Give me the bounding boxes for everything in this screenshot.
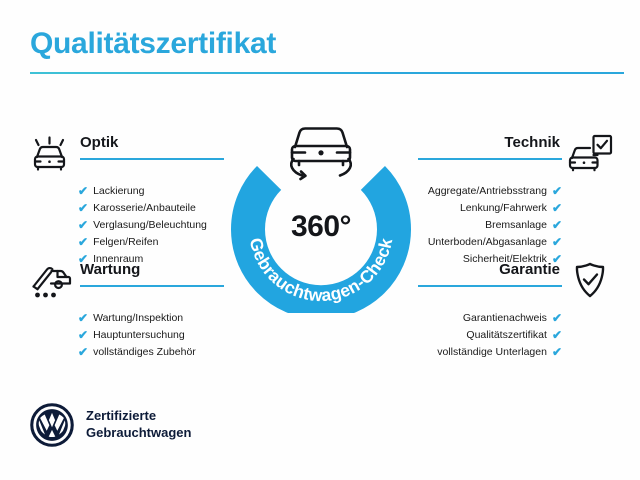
section-optik-title: Optik: [80, 135, 222, 152]
list-item: ✔Karosserie/Anbauteile: [24, 200, 224, 217]
section-garantie: Garantie Garantienachweis✔ Qualitätszert…: [416, 258, 616, 361]
list-item-label: Lenkung/Fahrwerk: [460, 203, 547, 214]
section-garantie-underline: [418, 285, 562, 287]
list-item-label: Unterboden/Abgasanlage: [428, 237, 547, 248]
section-technik-title-wrap: Technik: [418, 135, 560, 160]
list-item: ✔Felgen/Reifen: [24, 234, 224, 251]
check-icon: ✔: [552, 329, 562, 341]
list-item: ✔Lackierung: [24, 183, 224, 200]
list-item-label: Lackierung: [93, 186, 144, 197]
vw-logo: [30, 403, 74, 447]
section-wartung-title: Wartung: [80, 262, 222, 279]
section-optik-list: ✔Lackierung ✔Karosserie/Anbauteile ✔Verg…: [24, 183, 224, 268]
list-item-label: Verglasung/Beleuchtung: [93, 220, 207, 231]
title-divider: [30, 72, 624, 74]
check-icon: ✔: [552, 236, 562, 248]
section-wartung: Wartung ✔Wartung/Inspektion ✔Hauptunters…: [24, 258, 224, 361]
check-icon: ✔: [78, 236, 88, 248]
section-garantie-title: Garantie: [418, 262, 560, 279]
section-technik-list: Aggregate/Antriebsstrang✔ Lenkung/Fahrwe…: [416, 183, 616, 268]
list-item-label: Bremsanlage: [485, 220, 547, 231]
footer-line-2: Gebrauchtwagen: [86, 425, 191, 442]
section-wartung-underline: [80, 285, 224, 287]
list-item: Bremsanlage✔: [416, 217, 616, 234]
list-item: ✔vollständiges Zubehör: [24, 344, 224, 361]
list-item: ✔Verglasung/Beleuchtung: [24, 217, 224, 234]
car-service-wrench-icon: [24, 258, 76, 302]
check-icon: ✔: [78, 312, 88, 324]
check-icon: ✔: [552, 185, 562, 197]
section-optik-underline: [80, 158, 224, 160]
list-item: ✔Hauptuntersuchung: [24, 327, 224, 344]
section-garantie-list: Garantienachweis✔ Qualitätszertifikat✔ v…: [416, 310, 616, 361]
footer-brand: Zertifizierte Gebrauchtwagen: [30, 403, 191, 447]
list-item: Qualitätszertifikat✔: [416, 327, 616, 344]
check-icon: ✔: [552, 202, 562, 214]
list-item: Unterboden/Abgasanlage✔: [416, 234, 616, 251]
section-optik-title-wrap: Optik: [80, 135, 222, 160]
section-technik: Technik Aggregate/Antriebsstrang✔ Lenkun…: [416, 131, 616, 268]
car-front-headlights-icon: [24, 131, 76, 175]
list-item-label: vollständiges Zubehör: [93, 347, 196, 358]
list-item: ✔Wartung/Inspektion: [24, 310, 224, 327]
page-title: Qualitätszertifikat: [30, 28, 626, 60]
check-icon: ✔: [78, 202, 88, 214]
car-front-rotation-icon: [280, 117, 362, 185]
check-icon: ✔: [552, 219, 562, 231]
list-item-label: Felgen/Reifen: [93, 237, 158, 248]
section-technik-title: Technik: [418, 135, 560, 152]
check-icon: ✔: [552, 346, 562, 358]
list-item-label: Karosserie/Anbauteile: [93, 203, 196, 214]
list-item-label: Wartung/Inspektion: [93, 313, 183, 324]
list-item-label: Garantienachweis: [463, 313, 547, 324]
list-item: vollständige Unterlagen✔: [416, 344, 616, 361]
footer-line-1: Zertifizierte: [86, 408, 191, 425]
check-icon: ✔: [78, 185, 88, 197]
section-technik-header: Technik: [416, 131, 616, 177]
car-checkbox-icon: [564, 131, 616, 175]
list-item: Lenkung/Fahrwerk✔: [416, 200, 616, 217]
list-item-label: Hauptuntersuchung: [93, 330, 185, 341]
check-icon: ✔: [552, 312, 562, 324]
section-garantie-title-wrap: Garantie: [418, 262, 560, 287]
list-item-label: vollständige Unterlagen: [437, 347, 547, 358]
shield-check-icon: [564, 258, 616, 302]
section-optik-header: Optik: [24, 131, 224, 177]
section-optik: Optik ✔Lackierung ✔Karosserie/Anbauteile…: [24, 131, 224, 268]
section-wartung-list: ✔Wartung/Inspektion ✔Hauptuntersuchung ✔…: [24, 310, 224, 361]
check-icon: ✔: [78, 346, 88, 358]
section-technik-underline: [418, 158, 562, 160]
certificate-page: Qualitätszertifikat Opt: [0, 0, 640, 480]
section-wartung-header: Wartung: [24, 258, 224, 304]
footer-text: Zertifizierte Gebrauchtwagen: [86, 408, 191, 441]
list-item-label: Qualitätszertifikat: [466, 330, 547, 341]
list-item-label: Aggregate/Antriebsstrang: [428, 186, 547, 197]
section-garantie-header: Garantie: [416, 258, 616, 304]
list-item: Aggregate/Antriebsstrang✔: [416, 183, 616, 200]
list-item: Garantienachweis✔: [416, 310, 616, 327]
title-block: Qualitätszertifikat: [30, 28, 626, 74]
360-check-badge: Gebrauchtwagen-Check 360°: [228, 117, 414, 313]
check-icon: ✔: [78, 329, 88, 341]
check-icon: ✔: [78, 219, 88, 231]
section-wartung-title-wrap: Wartung: [80, 262, 222, 287]
